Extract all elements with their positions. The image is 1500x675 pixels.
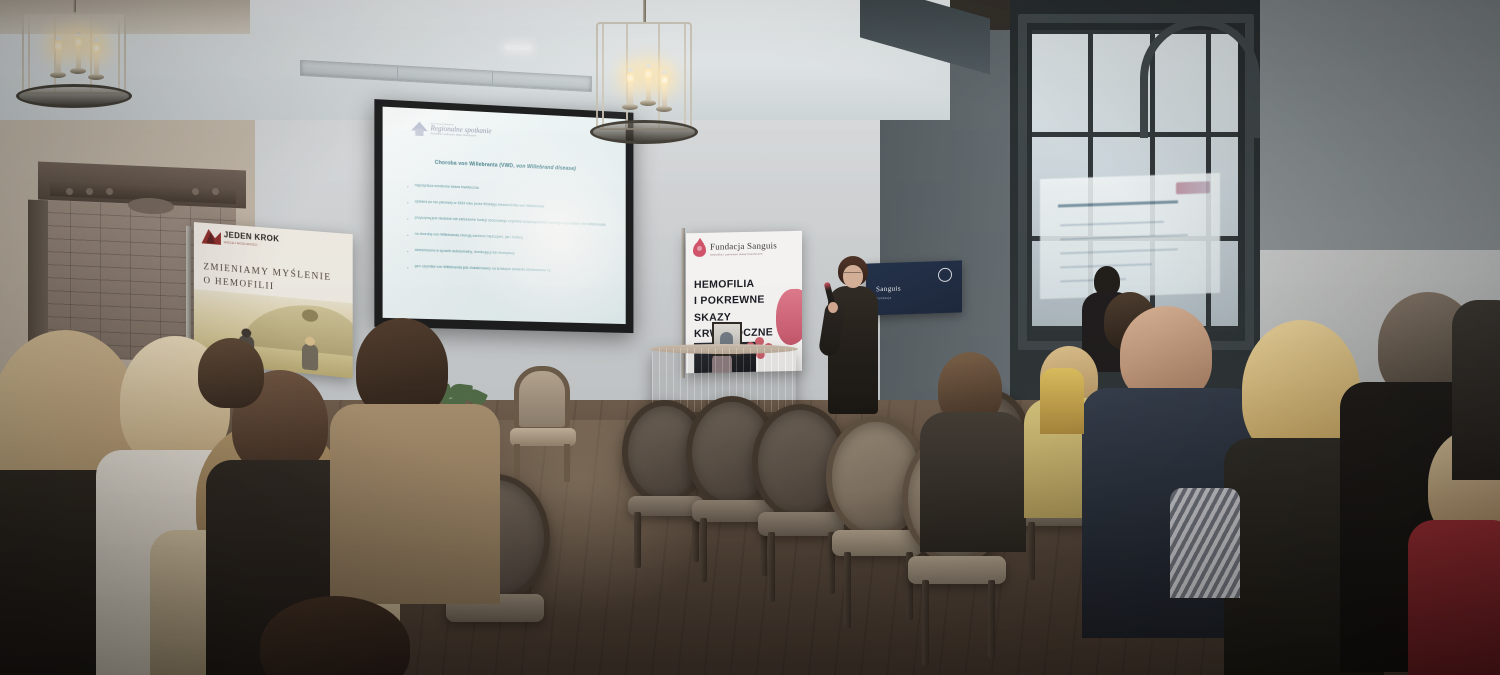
chandelier-ring (16, 84, 132, 108)
slide-bullet: ▪ przyczyną jest niedobór lub zaburzenie… (407, 215, 610, 230)
candle-flame-icon (75, 32, 82, 49)
slide-bullet: ▪ dziedziczona w sposób autosomalny, dom… (407, 248, 610, 262)
reflected-logo-icon (1176, 181, 1210, 194)
bullet-marker-icon: ▪ (407, 183, 408, 190)
right-banner-logo: Fundacja Sanguis Hemofilia i pokrewne sk… (693, 240, 777, 257)
right-banner-org-subtitle: Hemofilia i pokrewne skazy krwotoczne (710, 252, 777, 256)
slide-logo: XVII Dzień Hemofilii Regionalne spotkani… (411, 120, 491, 140)
conference-room-photo: XVII Dzień Hemofilii Regionalne spotkani… (0, 0, 1500, 675)
chandelier-left (22, 0, 126, 108)
slide-bullet: ▪ najczęstsza wrodzona skaza krwotoczna (407, 183, 610, 199)
candle-flame-icon (93, 38, 100, 55)
window-arch (1140, 18, 1260, 138)
circle-emblem-icon (938, 268, 952, 282)
right-banner-graphic (776, 289, 802, 346)
slide-bullet: ▪ opisana po raz pierwszy w 1924 roku pr… (407, 199, 610, 214)
chandelier-cage (22, 12, 126, 94)
slide-surface: XVII Dzień Hemofilii Regionalne spotkani… (383, 107, 626, 324)
candle-flame-icon (627, 68, 634, 85)
slide-reflection (1040, 173, 1220, 299)
candle-flame-icon (661, 70, 668, 87)
slide-title-italic: von Willebrand disease) (516, 163, 576, 172)
candle-flame-icon (645, 64, 652, 81)
bullet-marker-icon: ▪ (407, 264, 408, 271)
antique-chair (508, 366, 578, 486)
bullet-marker-icon: ▪ (407, 248, 408, 255)
chandelier-cage (596, 22, 692, 130)
slide-bullet: ▪ na chorobę von Willebranda chorują zar… (407, 231, 610, 245)
ceiling-spotlight (505, 45, 531, 50)
blood-drop-icon (693, 242, 706, 257)
speaker-glasses-icon (844, 272, 861, 277)
slide-bullet: ▪ gen czynnika von Willebranda jest zlok… (407, 264, 610, 277)
slide-title-main: Choroba von Willebranta (VWD, (435, 160, 515, 170)
bullet-marker-icon: ▪ (407, 215, 408, 222)
chandelier-ring (590, 120, 698, 144)
chandelier-right (596, 0, 692, 144)
mountain-step-logo-icon (202, 229, 221, 245)
right-banner-org-name: Fundacja Sanguis (710, 241, 777, 251)
speaker-hand (828, 302, 838, 313)
slide-title: Choroba von Willebranta (VWD, von Willeb… (383, 157, 626, 174)
speaker (818, 256, 882, 416)
candle-flame-icon (55, 36, 62, 53)
slide-bullet-list: ▪ najczęstsza wrodzona skaza krwotoczna … (407, 183, 610, 286)
bullet-marker-icon: ▪ (407, 199, 408, 206)
bullet-marker-icon: ▪ (407, 231, 408, 238)
left-banner-logo: JEDEN KROK WIĘCEJ MOŻLIWOŚCI (202, 229, 280, 250)
house-arrow-logo-icon (411, 120, 427, 137)
